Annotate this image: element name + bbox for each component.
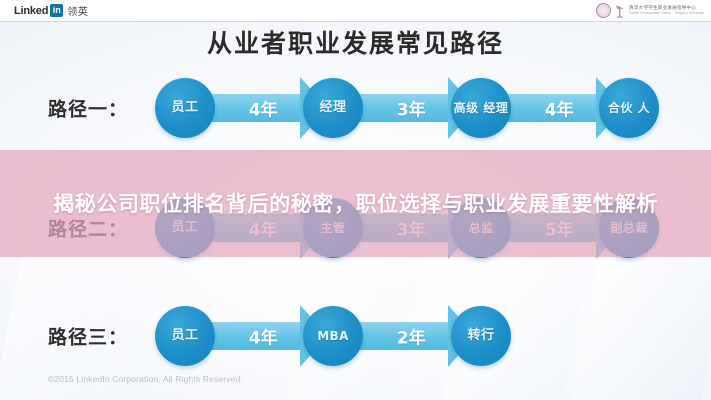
page-header: Linked in 领英 清华大学学生职业发展指导中心 Career Devel… xyxy=(0,0,711,22)
path-node-senior-manager[interactable]: 高级 经理 xyxy=(451,78,511,138)
partner-name-en: Career Development Center · Tsinghua Uni… xyxy=(629,11,704,16)
partner-logo-text: 清华大学学生职业发展指导中心 Career Development Center… xyxy=(629,5,704,16)
path-row-1: 路径一： 4年 3年 4年 员工 经理 高级 经理 合伙 人 xyxy=(0,62,711,154)
duration-label: 4年 xyxy=(249,96,278,121)
path-node-partner[interactable]: 合伙 人 xyxy=(599,78,659,138)
linkedin-in-icon: in xyxy=(50,4,63,17)
node-label: 员工 xyxy=(171,101,198,115)
path-row-3: 路径三： 4年 2年 员工 MBA 转行 xyxy=(0,290,711,382)
path-node-career-change[interactable]: 转行 xyxy=(451,306,511,366)
duration-label: 3年 xyxy=(397,96,426,121)
article-headline: 揭秘公司职位排名背后的秘密，职位选择与职业发展重要性解析 xyxy=(36,187,676,221)
path-node-mba[interactable]: MBA xyxy=(303,306,363,366)
node-label: 经理 xyxy=(319,101,346,115)
node-label: 员工 xyxy=(171,329,198,343)
linkedin-logo[interactable]: Linked in 领英 xyxy=(14,3,88,18)
node-label: 转行 xyxy=(467,329,494,343)
university-seal-icon xyxy=(596,3,611,18)
duration-label: 2年 xyxy=(397,324,426,349)
node-label: MBA xyxy=(317,329,349,343)
path-label-1: 路径一： xyxy=(48,95,128,122)
copyright-notice: ©2015 LinkedIn Corporation. All Rights R… xyxy=(48,374,243,384)
path-node-manager[interactable]: 经理 xyxy=(303,78,363,138)
node-label: 合伙 人 xyxy=(608,102,650,115)
duration-label: 4年 xyxy=(249,324,278,349)
career-center-mark-icon xyxy=(615,4,625,18)
path-label-3: 路径三： xyxy=(48,323,128,350)
linkedin-chinese-name: 领英 xyxy=(67,3,88,18)
duration-label: 4年 xyxy=(545,96,574,121)
path-node-employee[interactable]: 员工 xyxy=(155,306,215,366)
node-label: 高级 经理 xyxy=(454,102,509,115)
article-headline-overlay: 揭秘公司职位排名背后的秘密，职位选择与职业发展重要性解析 xyxy=(0,150,711,257)
path-node-employee[interactable]: 员工 xyxy=(155,78,215,138)
page-title: 从业者职业发展常见路径 xyxy=(0,24,711,60)
partner-university-logo[interactable]: 清华大学学生职业发展指导中心 Career Development Center… xyxy=(596,2,704,19)
infographic-canvas: Linked in 领英 清华大学学生职业发展指导中心 Career Devel… xyxy=(0,0,711,400)
linkedin-wordmark: Linked xyxy=(14,5,48,17)
